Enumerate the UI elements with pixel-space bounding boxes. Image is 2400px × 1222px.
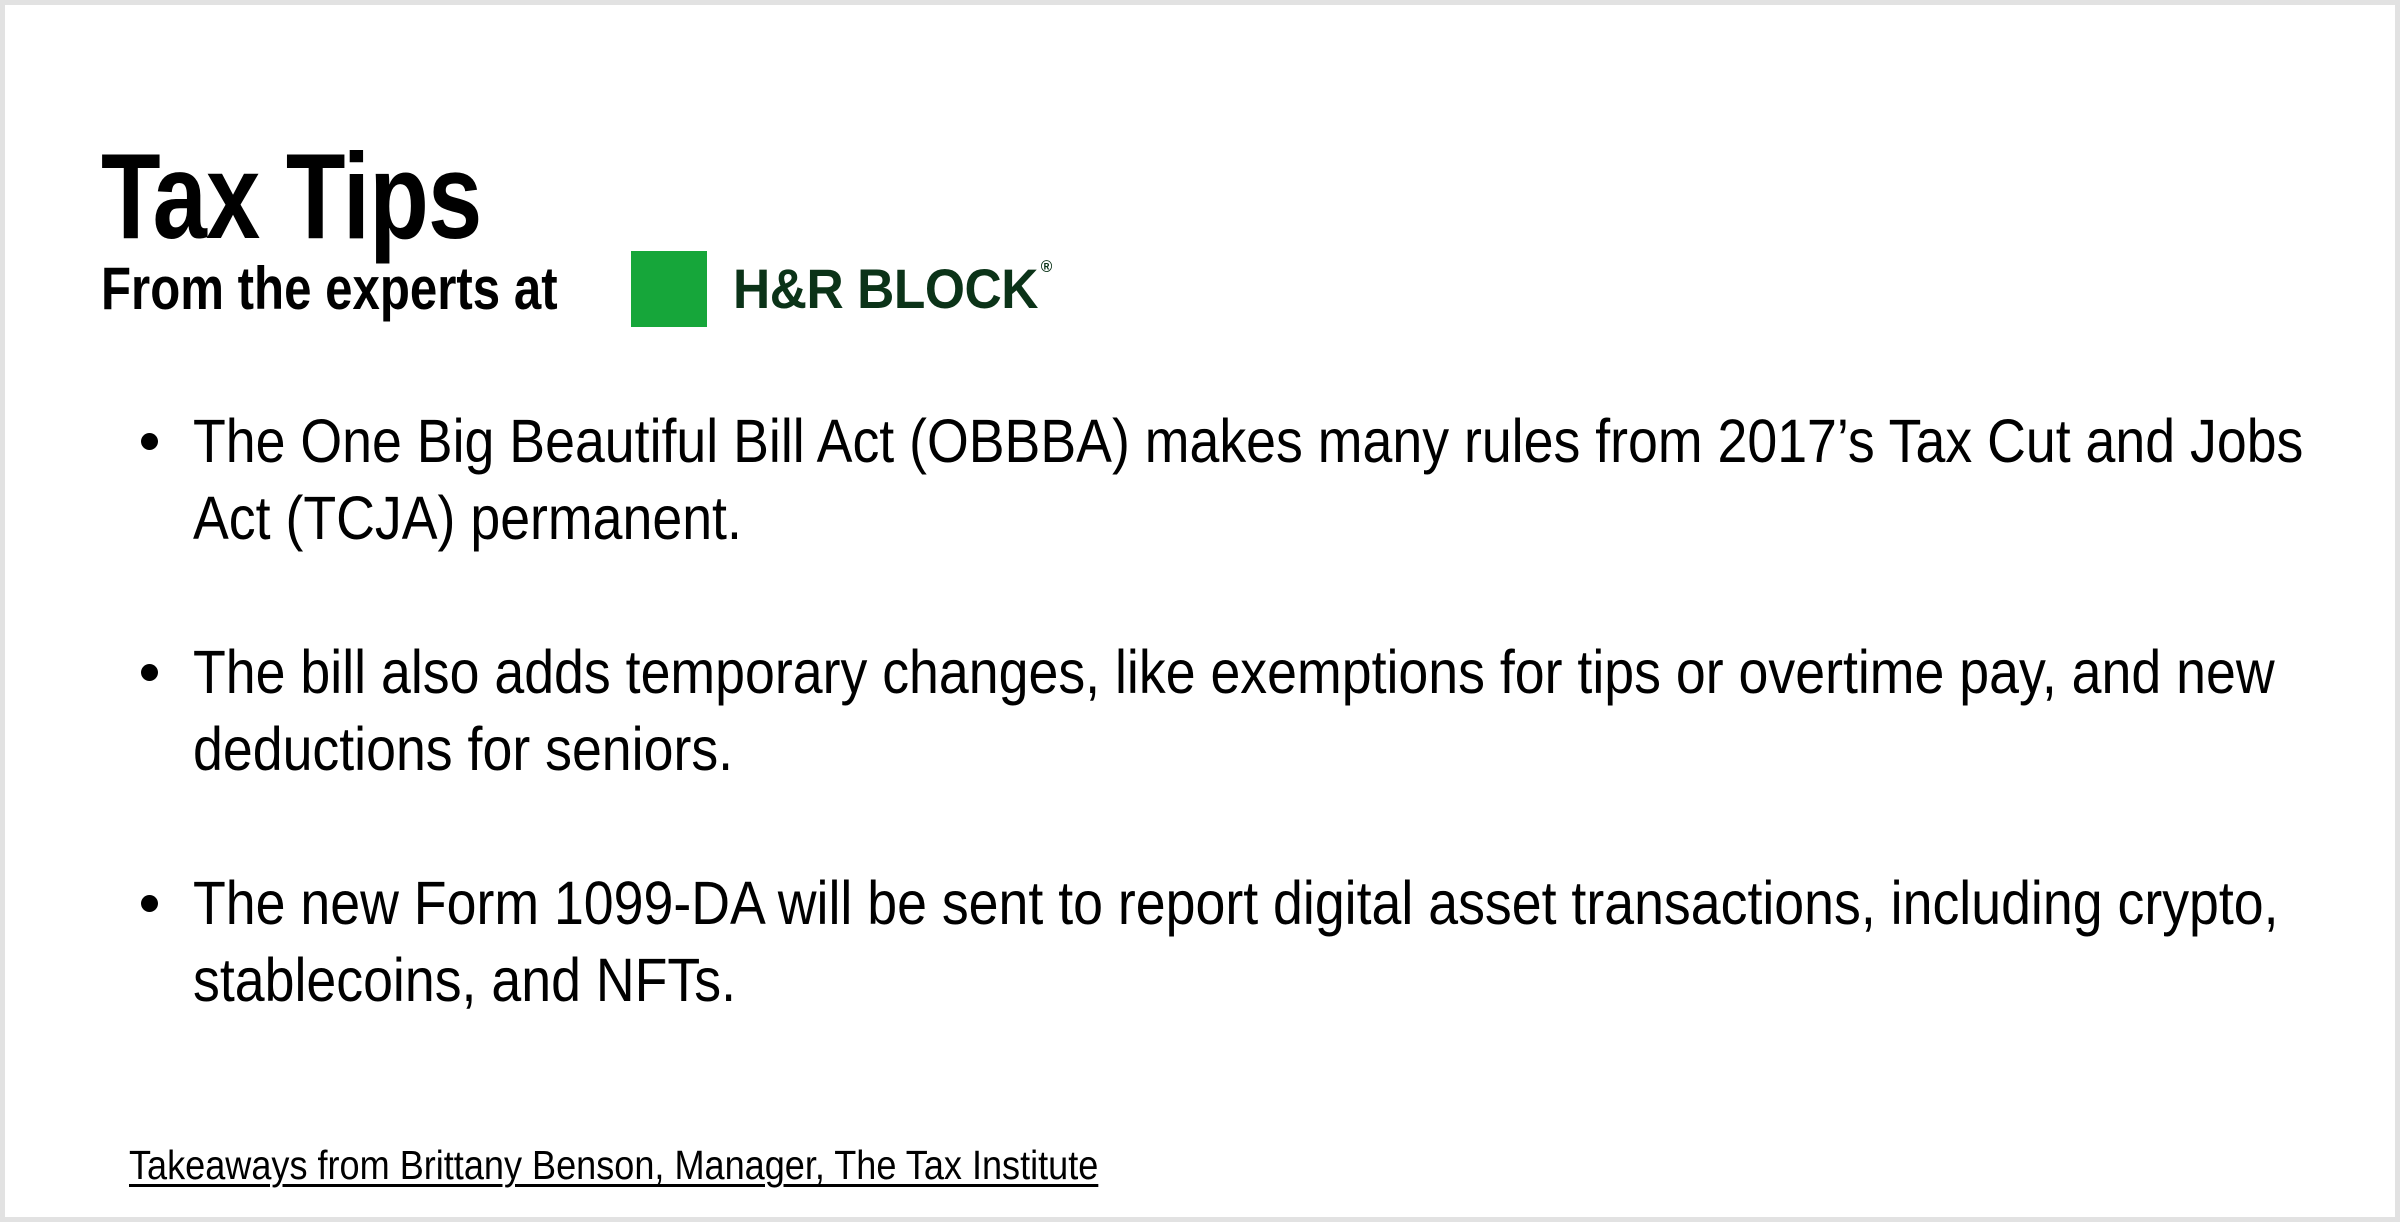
- list-item: The One Big Beautiful Bill Act (OBBBA) m…: [133, 403, 2323, 558]
- list-item: The new Form 1099-DA will be sent to rep…: [133, 865, 2323, 1020]
- hr-block-logo: H&R BLOCK®: [631, 251, 1077, 327]
- tax-tips-slide: Tax Tips From the experts at H&R BLOCK® …: [0, 0, 2400, 1222]
- list-item-text: The bill also adds temporary changes, li…: [193, 634, 2322, 789]
- attribution-footer: Takeaways from Brittany Benson, Manager,…: [129, 1145, 1098, 1186]
- list-item-text: The new Form 1099-DA will be sent to rep…: [193, 865, 2322, 1020]
- byline-text: From the experts at: [101, 259, 527, 319]
- hr-block-wordmark-text: H&R BLOCK: [733, 257, 1038, 320]
- tips-list: The One Big Beautiful Bill Act (OBBBA) m…: [133, 403, 2323, 1020]
- bullet-dot-icon: [141, 433, 158, 450]
- hr-block-wordmark: H&R BLOCK®: [733, 261, 1049, 317]
- page-title: Tax Tips: [101, 135, 482, 257]
- bullet-dot-icon: [141, 895, 158, 912]
- bullet-dot-icon: [141, 664, 158, 681]
- registered-trademark-icon: ®: [1041, 257, 1052, 276]
- list-item-text: The One Big Beautiful Bill Act (OBBBA) m…: [193, 403, 2322, 558]
- list-item: The bill also adds temporary changes, li…: [133, 634, 2323, 789]
- hr-block-green-square-icon: [631, 251, 707, 327]
- byline-row: From the experts at H&R BLOCK®: [101, 243, 1077, 335]
